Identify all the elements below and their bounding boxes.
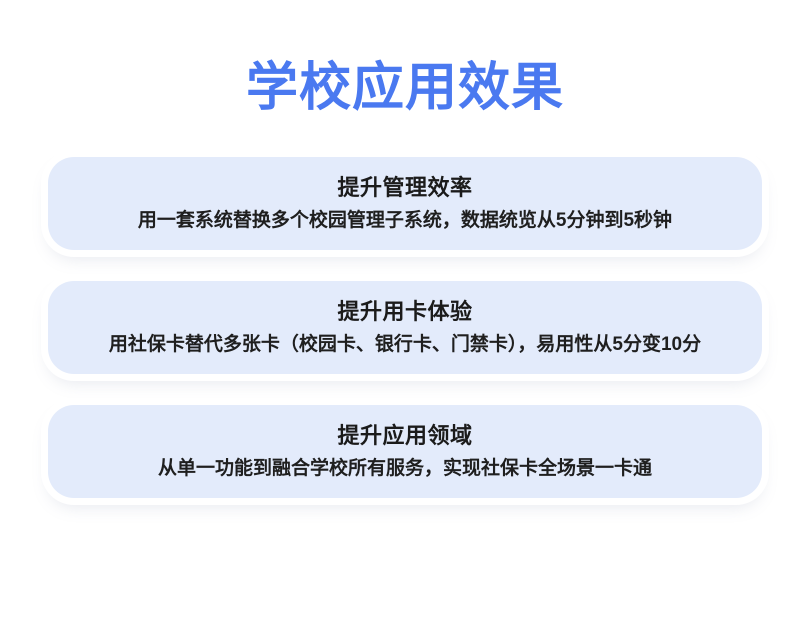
benefit-card-description: 用一套系统替换多个校园管理子系统，数据统览从5分钟到5秒钟 (138, 207, 672, 234)
benefit-card: 提升应用领域 从单一功能到融合学校所有服务，实现社保卡全场景一卡通 (48, 405, 762, 498)
benefit-card-list: 提升管理效率 用一套系统替换多个校园管理子系统，数据统览从5分钟到5秒钟 提升用… (48, 157, 762, 498)
poster-page: 学校应用效果 提升管理效率 用一套系统替换多个校园管理子系统，数据统览从5分钟到… (0, 0, 810, 622)
page-title: 学校应用效果 (0, 57, 810, 119)
benefit-card: 提升用卡体验 用社保卡替代多张卡（校园卡、银行卡、门禁卡），易用性从5分变10分 (48, 281, 762, 374)
benefit-card-title: 提升应用领域 (337, 421, 472, 451)
benefit-card-title: 提升管理效率 (337, 173, 472, 203)
benefit-card-description: 从单一功能到融合学校所有服务，实现社保卡全场景一卡通 (158, 455, 652, 482)
benefit-card-title: 提升用卡体验 (337, 297, 472, 327)
benefit-card-description: 用社保卡替代多张卡（校园卡、银行卡、门禁卡），易用性从5分变10分 (109, 331, 701, 358)
benefit-card: 提升管理效率 用一套系统替换多个校园管理子系统，数据统览从5分钟到5秒钟 (48, 157, 762, 250)
